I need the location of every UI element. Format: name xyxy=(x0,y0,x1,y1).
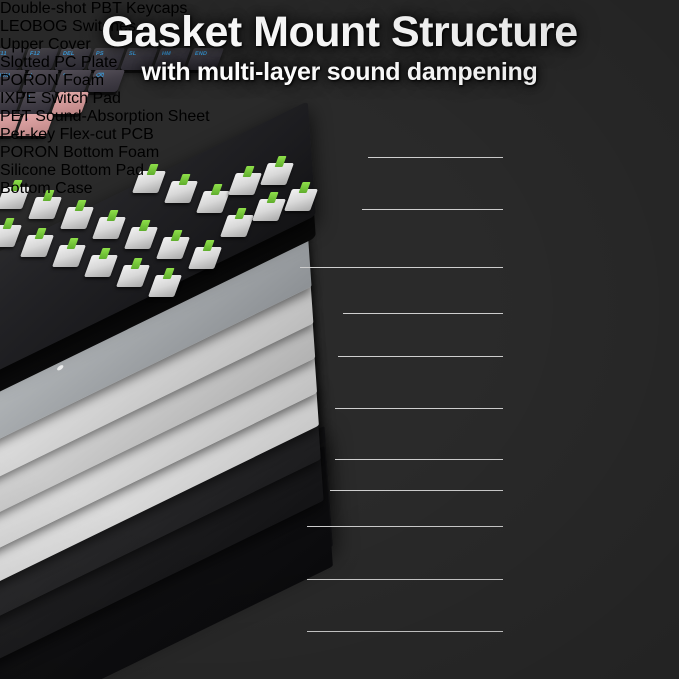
page-title: Gasket Mount Structure xyxy=(0,8,679,56)
leader-line-leobog-switches xyxy=(362,209,503,210)
leader-line-per-key-flex-cut-pcb xyxy=(330,490,503,491)
leader-line-poron-bottom-foam xyxy=(307,526,503,527)
callout-layer: Double-shot PBT KeycapsLEOBOG SwitchesUp… xyxy=(0,0,679,679)
leader-line-double-shot-pbt-keycaps xyxy=(368,157,503,158)
leader-line-bottom-case xyxy=(307,631,503,632)
page-subtitle: with multi-layer sound dampening xyxy=(0,57,679,87)
leader-line-slotted-pc-plate xyxy=(343,313,503,314)
callout-label-poron-bottom-foam: PORON Bottom Foam xyxy=(0,144,679,162)
title-block: Gasket Mount Structure with multi-layer … xyxy=(0,8,679,87)
callout-label-pet-sound-absorption-sheet: PET Sound-Absorption Sheet xyxy=(0,108,679,126)
leader-line-upper-cover xyxy=(300,267,503,268)
product-infographic: F7 F8 F9 F10 F11 F12 DEL PS SL HM END ) … xyxy=(0,0,679,679)
leader-line-poron-foam xyxy=(338,356,503,357)
leader-line-pet-sound-absorption-sheet xyxy=(335,459,503,460)
callout-label-ixpe-switch-pad: IXPE Switch Pad xyxy=(0,90,679,108)
callout-label-silicone-bottom-pad: Silicone Bottom Pad xyxy=(0,162,679,180)
leader-line-silicone-bottom-pad xyxy=(307,579,503,580)
leader-line-ixpe-switch-pad xyxy=(335,408,503,409)
callout-label-bottom-case: Bottom Case xyxy=(0,180,679,198)
callout-label-per-key-flex-cut-pcb: Per-key Flex-cut PCB xyxy=(0,126,679,144)
